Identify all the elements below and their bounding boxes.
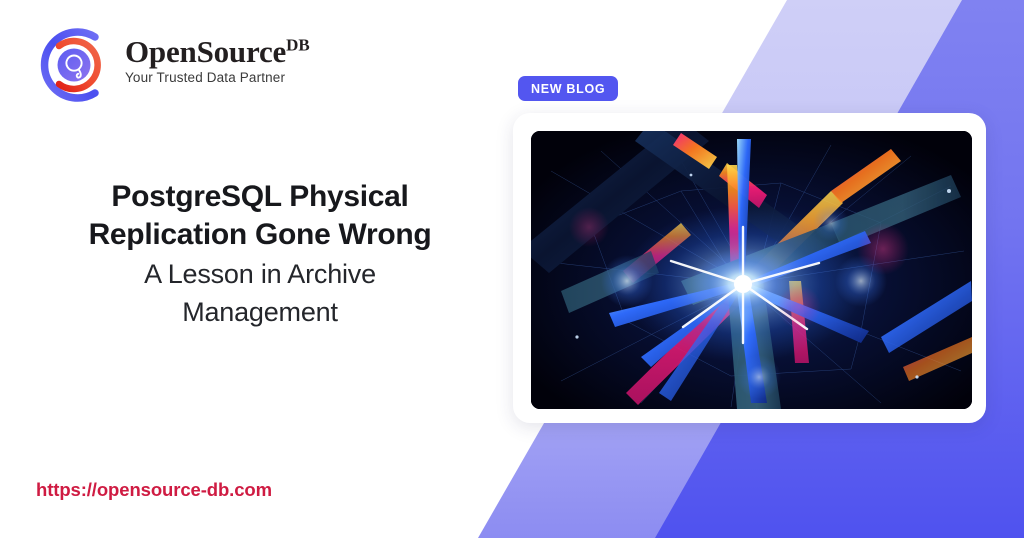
subtitle-line-2: Management [40,295,480,331]
title-line-1: PostgreSQL Physical [40,178,480,216]
brand-name-open: Open [125,34,197,69]
page-title: PostgreSQL Physical Replication Gone Wro… [40,178,480,331]
brand-wordmark: OpenSourceDB [125,36,310,67]
blog-image-card[interactable] [513,113,986,423]
title-line-2: Replication Gone Wrong [40,216,480,254]
brand-logo[interactable]: OpenSourceDB Your Trusted Data Partner [33,24,363,108]
subtitle-line-1: A Lesson in Archive [40,257,480,293]
brand-wordmark-group: OpenSourceDB Your Trusted Data Partner [125,36,310,85]
brand-superscript-db: DB [286,36,310,55]
brand-tagline: Your Trusted Data Partner [125,70,310,85]
blog-cover-photo [531,131,972,409]
brand-name-source: Source [197,34,287,69]
blog-promo-banner: OpenSourceDB Your Trusted Data Partner P… [0,0,1024,538]
new-blog-badge: NEW BLOG [518,76,618,101]
website-url-link[interactable]: https://opensource-db.com [36,479,272,501]
opensourcedb-ring-logo-icon [33,24,115,106]
